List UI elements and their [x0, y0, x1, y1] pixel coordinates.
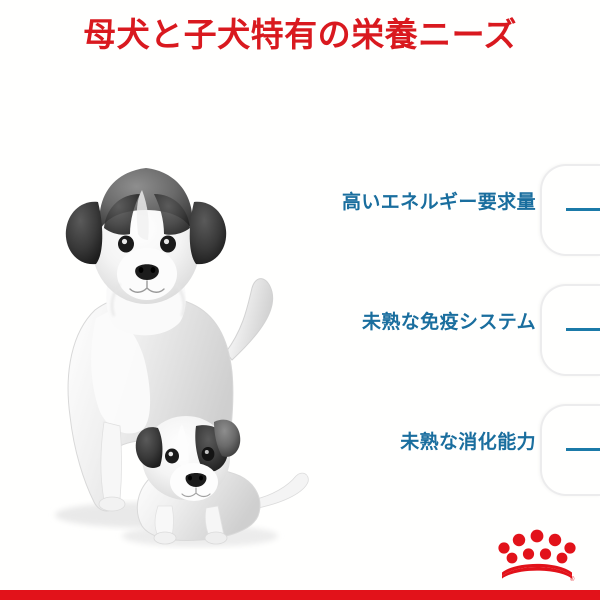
royal-canin-crown-icon: ®	[498, 526, 576, 582]
list-item: 高いエネルギー要求量	[300, 160, 600, 272]
footer-red-bar	[0, 590, 600, 600]
dog-photo-image	[0, 60, 340, 560]
nutrition-needs-list: 高いエネルギー要求量 未熟な免疫システム 未熟な消化能力	[300, 160, 600, 500]
connector-line-1	[566, 208, 600, 211]
need-label-high-energy: 高いエネルギー要求量	[300, 192, 536, 215]
need-label-immature-digestion: 未熟な消化能力	[300, 432, 536, 455]
connector-line-3	[566, 448, 600, 451]
infographic-root: 母犬と子犬特有の栄養ニーズ	[0, 0, 600, 600]
puppy-dog	[122, 416, 308, 547]
list-item: 未熟な消化能力	[300, 400, 600, 512]
connector-line-2	[566, 328, 600, 331]
dog-photo	[0, 60, 340, 560]
need-label-immature-immune-system: 未熟な免疫システム	[300, 312, 536, 335]
list-item: 未熟な免疫システム	[300, 280, 600, 392]
registered-mark: ®	[570, 576, 575, 582]
page-title-text: 母犬と子犬特有の栄養ニーズ	[83, 18, 517, 51]
royal-canin-crown-logo: ®	[498, 526, 576, 582]
page-title: 母犬と子犬特有の栄養ニーズ	[0, 8, 600, 60]
